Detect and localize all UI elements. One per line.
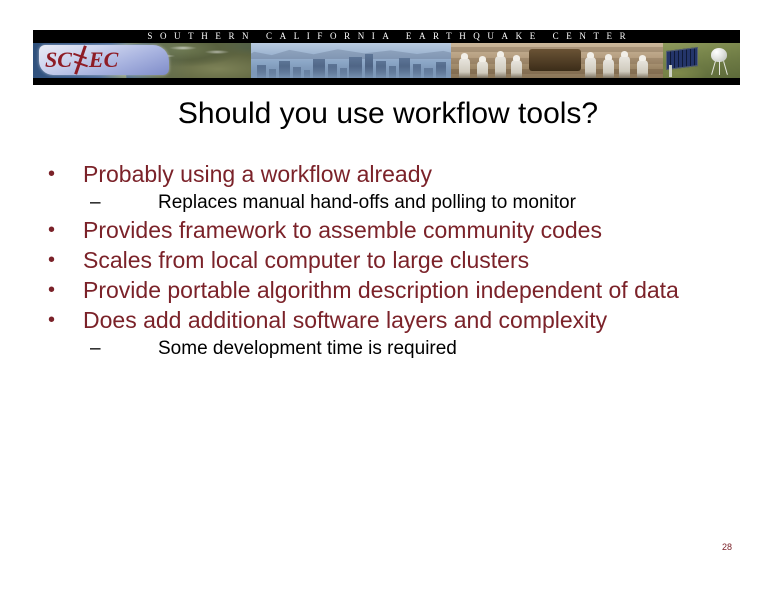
bullet-text: Probably using a workflow already (83, 160, 734, 188)
bullet-item: • Provides framework to assemble communi… (44, 216, 734, 244)
bullet-marker-icon: • (44, 246, 83, 274)
bullet-item: • Provide portable algorithm description… (44, 276, 734, 304)
bullet-item: • Does add additional software layers an… (44, 306, 734, 334)
los-angeles-skyline-photo (251, 43, 451, 78)
sub-bullet-text: Some development time is required (158, 336, 734, 361)
trench-shadow (529, 49, 581, 71)
satellite-coastline-photo: SC EC (33, 43, 251, 78)
gps-station-photo (663, 43, 740, 78)
sub-bullet-text: Replaces manual hand-offs and polling to… (158, 190, 734, 215)
bullet-text: Scales from local computer to large clus… (83, 246, 734, 274)
researcher-figure (459, 58, 470, 78)
banner-organization-bar: SOUTHERN CALIFORNIA EARTHQUAKE CENTER (33, 30, 740, 43)
bullet-text: Does add additional software layers and … (83, 306, 734, 334)
page-title: Should you use workflow tools? (0, 97, 776, 131)
scec-logo-ec: EC (89, 49, 118, 71)
bullet-text: Provide portable algorithm description i… (83, 276, 734, 304)
scec-logo-tick (74, 61, 88, 67)
page-number: 28 (722, 542, 732, 552)
researcher-figure (511, 60, 522, 78)
banner-organization-text: SOUTHERN CALIFORNIA EARTHQUAKE CENTER (140, 30, 634, 43)
researcher-figure (495, 56, 506, 78)
bullet-item: • Probably using a workflow already (44, 160, 734, 188)
scec-logo: SC EC (45, 46, 163, 74)
researcher-figure (477, 61, 488, 78)
researcher-figure (603, 59, 614, 78)
dash-marker-icon: – (44, 190, 158, 215)
gps-dome-antenna-icon (711, 48, 727, 62)
sub-bullet-item: – Replaces manual hand-offs and polling … (44, 190, 734, 215)
scec-banner: SOUTHERN CALIFORNIA EARTHQUAKE CENTER SC… (33, 30, 740, 85)
scec-logo-sc: SC (45, 49, 72, 71)
researcher-figure (585, 57, 596, 78)
presentation-slide: SOUTHERN CALIFORNIA EARTHQUAKE CENTER SC… (0, 0, 776, 600)
banner-photo-strip: SC EC (33, 43, 740, 78)
sub-bullet-item: – Some development time is required (44, 336, 734, 361)
solar-panel-post (669, 65, 672, 77)
dash-marker-icon: – (44, 336, 158, 361)
scec-logo-slash-icon (72, 46, 89, 74)
banner-bottom-bar (33, 78, 740, 85)
researcher-figure (619, 56, 630, 78)
bullet-marker-icon: • (44, 276, 83, 304)
bullet-marker-icon: • (44, 216, 83, 244)
researcher-figure (637, 60, 648, 78)
bullet-marker-icon: • (44, 160, 83, 188)
paleoseismic-trench-photo (451, 43, 663, 78)
bullet-text: Provides framework to assemble community… (83, 216, 734, 244)
bullet-item: • Scales from local computer to large cl… (44, 246, 734, 274)
skyline-haze (251, 66, 451, 78)
bullet-marker-icon: • (44, 306, 83, 334)
slide-body: • Probably using a workflow already – Re… (44, 160, 734, 362)
